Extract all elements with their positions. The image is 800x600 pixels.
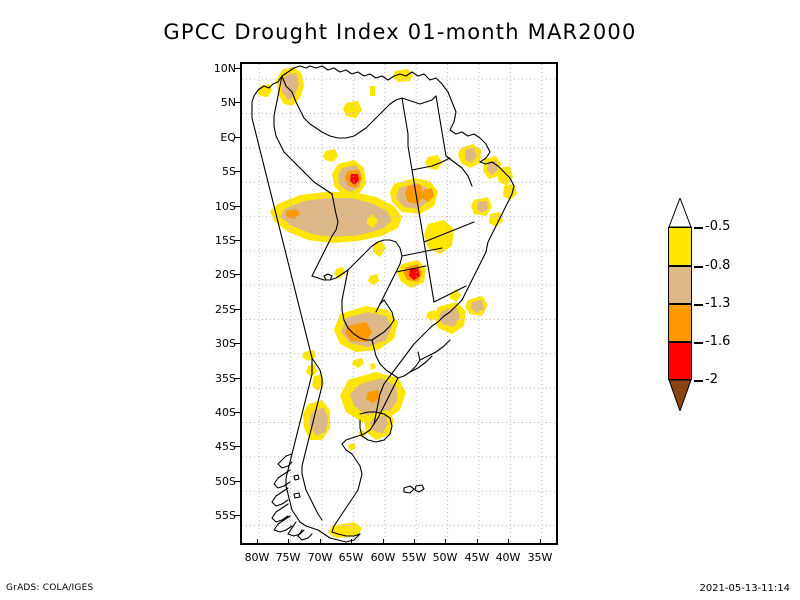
x-axis-label: 35W (520, 551, 560, 564)
y-axis-tick (234, 343, 240, 344)
y-axis-label: 55S (202, 509, 236, 522)
y-axis-label: 40S (202, 406, 236, 419)
colorbar-tick (694, 304, 703, 306)
map-clip (242, 64, 556, 543)
y-axis-tick (234, 515, 240, 516)
colorbar-label: -2 (705, 372, 718, 387)
y-axis-label: 15S (202, 234, 236, 247)
y-axis-label: 5S (202, 165, 236, 178)
colorbar-tick (694, 380, 703, 382)
x-axis-tick (477, 539, 478, 545)
render-timestamp: 2021-05-13-11:14 (699, 583, 790, 594)
y-axis-label: EQ (202, 131, 236, 144)
colorbar-top-triangle (668, 198, 692, 227)
chart-title: GPCC Drought Index 01-month MAR2000 (0, 20, 800, 44)
x-axis-tick (351, 539, 352, 545)
chart-page: GPCC Drought Index 01-month MAR2000 (0, 0, 800, 600)
colorbar-band-yellow (668, 227, 692, 266)
y-axis-tick (234, 378, 240, 379)
map-svg (242, 64, 556, 543)
y-axis-tick (234, 137, 240, 138)
colorbar-label: -0.8 (705, 258, 730, 273)
colorbar-tick (694, 227, 703, 229)
colorbar-band-orange (668, 304, 692, 342)
x-axis-tick (288, 539, 289, 545)
y-axis-tick (234, 412, 240, 413)
x-axis-tick (540, 539, 541, 545)
y-axis-tick (234, 171, 240, 172)
colorbar-band-red (668, 342, 692, 380)
colorbar-label: -1.6 (705, 334, 730, 349)
colorbar-tick (694, 342, 703, 344)
y-axis-label: 35S (202, 372, 236, 385)
y-axis-tick (234, 274, 240, 275)
drought-shading (257, 67, 517, 538)
colorbar-label: -1.3 (705, 296, 730, 311)
map-plot-area (240, 62, 558, 545)
colorbar-tick (694, 266, 703, 268)
x-axis-tick (320, 539, 321, 545)
y-axis-label: 25S (202, 303, 236, 316)
y-axis-tick (234, 68, 240, 69)
y-axis-label: 45S (202, 440, 236, 453)
x-axis-tick (257, 539, 258, 545)
colorbar-band-tan (668, 266, 692, 304)
y-axis-label: 20S (202, 268, 236, 281)
y-axis-tick (234, 481, 240, 482)
y-axis-label: 5N (202, 96, 236, 109)
x-axis-tick (445, 539, 446, 545)
colorbar-label: -0.5 (705, 219, 730, 234)
y-axis-label: 30S (202, 337, 236, 350)
y-axis-tick (234, 206, 240, 207)
x-axis-tick (508, 539, 509, 545)
y-axis-tick (234, 309, 240, 310)
x-axis-tick (383, 539, 384, 545)
colorbar-bottom-triangle (668, 380, 692, 411)
grads-credit: GrADS: COLA/IGES (6, 583, 93, 593)
y-axis-tick (234, 240, 240, 241)
y-axis-tick (234, 446, 240, 447)
y-axis-label: 10N (202, 62, 236, 75)
x-axis-tick (414, 539, 415, 545)
y-axis-label: 10S (202, 200, 236, 213)
y-axis-tick (234, 102, 240, 103)
y-axis-label: 50S (202, 475, 236, 488)
